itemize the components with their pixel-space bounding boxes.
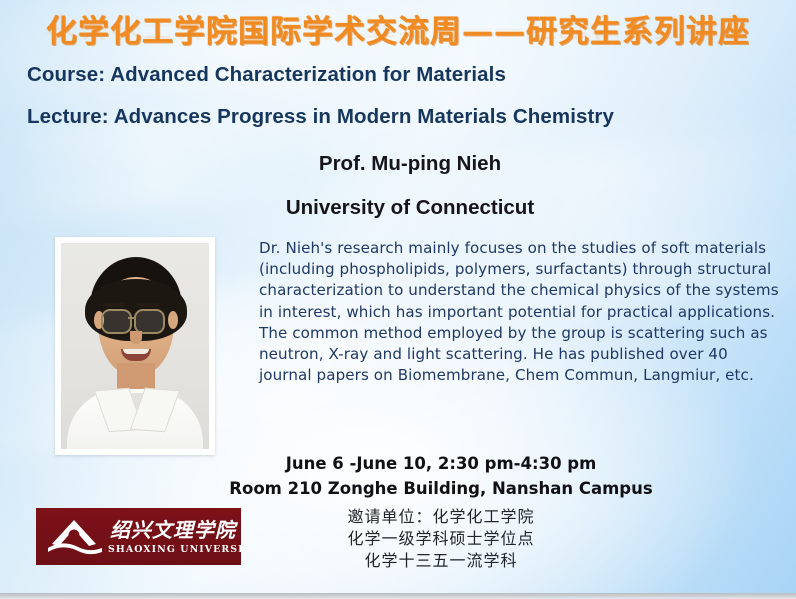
portrait-teeth xyxy=(123,349,149,354)
speaker-photo-image xyxy=(61,243,209,449)
host-organization-line: 邀请单位：化学化工学院 xyxy=(196,503,686,527)
university-logo: 绍兴文理学院 SHAOXING UNIVERSITY xyxy=(36,508,241,565)
banner-title: 化学化工学院国际学术交流周——研究生系列讲座 xyxy=(0,6,796,51)
portrait-eyebrow-left xyxy=(103,303,125,307)
speaker-biography: Dr. Nieh's research mainly focuses on th… xyxy=(259,238,781,386)
speaker-name: Prof. Mu-ping Nieh xyxy=(200,152,620,176)
event-location: Room 210 Zonghe Building, Nanshan Campus xyxy=(196,479,686,498)
lecture-heading: Lecture: Advances Progress in Modern Mat… xyxy=(27,105,614,129)
host-organization-line: 化学十三五一流学科 xyxy=(196,547,686,571)
logo-english-name: SHAOXING UNIVERSITY xyxy=(108,544,238,555)
speaker-affiliation: University of Connecticut xyxy=(200,196,620,220)
course-heading: Course: Advanced Characterization for Ma… xyxy=(27,63,506,87)
bridge-arch-emblem-icon xyxy=(46,518,104,556)
speaker-photo xyxy=(55,237,215,455)
portrait-glasses-left xyxy=(101,309,132,334)
lecture-poster: 化学化工学院国际学术交流周——研究生系列讲座 化学化工学院国际学术交流周——研究… xyxy=(0,0,796,599)
bottom-edge-bar xyxy=(0,593,796,599)
portrait-glasses-bridge xyxy=(128,317,134,319)
event-datetime: June 6 -June 10, 2:30 pm-4:30 pm xyxy=(196,454,686,473)
portrait-ear-right xyxy=(168,311,178,329)
portrait-nose xyxy=(130,331,142,344)
portrait-eyebrow-right xyxy=(137,303,159,307)
host-organization-line: 化学一级学科硕士学位点 xyxy=(196,525,686,549)
logo-chinese-name: 绍兴文理学院 xyxy=(110,514,236,543)
